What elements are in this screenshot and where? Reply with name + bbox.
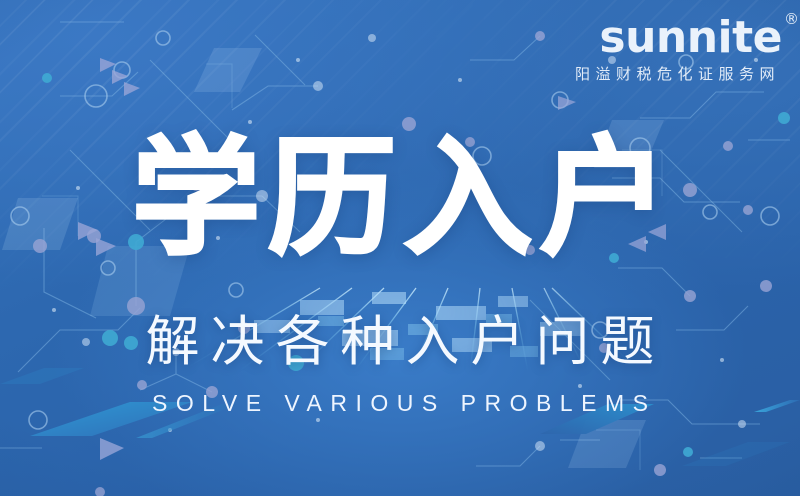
- page-tagline: SOLVE VARIOUS PROBLEMS: [0, 392, 800, 415]
- page-subtitle: 解决各种入户问题: [0, 313, 800, 372]
- registered-trademark-icon: ®: [784, 12, 799, 27]
- logo-chinese-name: 阳溢财税危化证服务网: [569, 67, 782, 82]
- logo-wordmark: sunnite ®: [599, 16, 782, 60]
- banner-content: sunnite ® 阳溢财税危化证服务网 学历入户 解决各种入户问题 SOLVE…: [0, 0, 800, 496]
- logo-wordmark-text: sunnite: [599, 12, 782, 63]
- page-title: 学历入户: [0, 135, 800, 263]
- promo-banner: sunnite ® 阳溢财税危化证服务网 学历入户 解决各种入户问题 SOLVE…: [0, 0, 800, 496]
- brand-logo[interactable]: sunnite ® 阳溢财税危化证服务网: [569, 16, 782, 82]
